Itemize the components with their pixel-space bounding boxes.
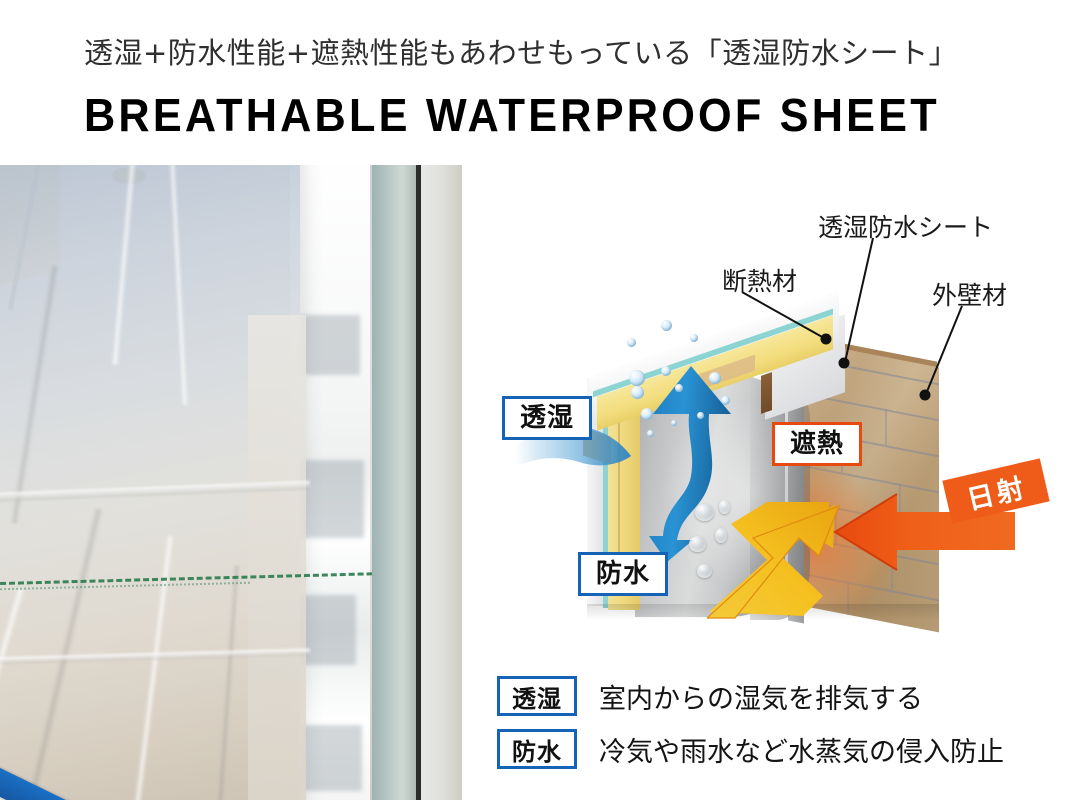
- legend-badge-waterproof: 防水: [497, 729, 577, 769]
- badge-waterproof: 防水: [578, 552, 668, 596]
- legend-row-waterproof: 防水 冷気や雨水など水蒸気の侵入防止: [497, 729, 1004, 769]
- callout-label-insulation: 断熱材: [722, 262, 797, 298]
- legend-row-moisture: 透湿 室内からの湿気を排気する: [497, 676, 923, 716]
- badge-heat-shield: 遮熱: [772, 422, 862, 466]
- legend-text-moisture-permeable: 室内からの湿気を排気する: [599, 677, 923, 716]
- badge-moisture-permeable: 透湿: [502, 396, 592, 440]
- legend-text-waterproof: 冷気や雨水など水蒸気の侵入防止: [599, 730, 1004, 769]
- callout-label-breathable-sheet: 透湿防水シート: [818, 208, 993, 244]
- callout-label-exterior-material: 外壁材: [932, 276, 1007, 312]
- legend-badge-moisture-permeable: 透湿: [497, 676, 577, 716]
